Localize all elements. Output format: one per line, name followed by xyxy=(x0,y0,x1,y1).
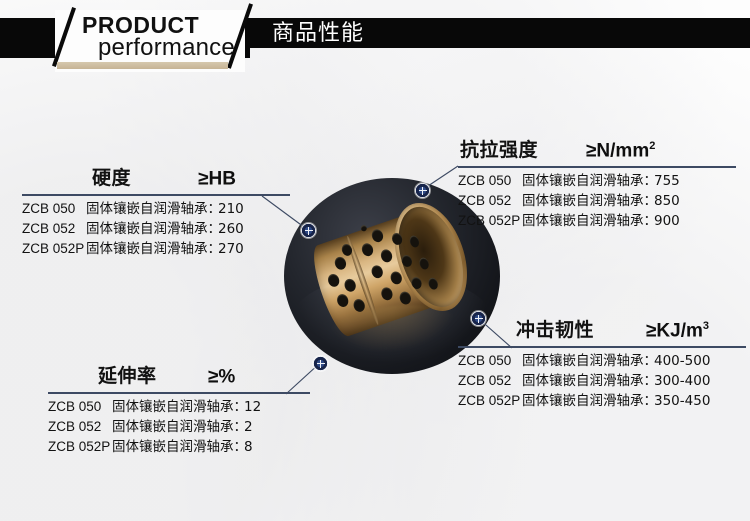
spec-desc: 固体镶嵌自润滑轴承： xyxy=(112,397,244,417)
spec-rows: ZCB 050固体镶嵌自润滑轴承：210 ZCB 052固体镶嵌自润滑轴承：26… xyxy=(22,199,290,259)
spec-value: 2 xyxy=(244,417,253,437)
spec-unit: ≥N/mm2 xyxy=(586,140,655,162)
spec-desc: 固体镶嵌自润滑轴承： xyxy=(112,437,244,457)
page-header: PRODUCT performance 商品性能 xyxy=(0,0,750,100)
spec-row: ZCB 052固体镶嵌自润滑轴承：300-400 xyxy=(458,371,746,391)
header-subtitle: performance xyxy=(98,36,235,60)
spec-row: ZCB 050固体镶嵌自润滑轴承：210 xyxy=(22,199,290,219)
spec-code: ZCB 052 xyxy=(48,417,112,437)
spec-desc: 固体镶嵌自润滑轴承： xyxy=(522,171,654,191)
spec-block-elongation: 延伸率 ≥% ZCB 050固体镶嵌自润滑轴承：12 ZCB 052固体镶嵌自润… xyxy=(48,364,310,457)
spec-unit: ≥% xyxy=(208,366,235,388)
spec-rows: ZCB 050固体镶嵌自润滑轴承：755 ZCB 052固体镶嵌自润滑轴承：85… xyxy=(458,171,736,231)
spec-row: ZCB 052P固体镶嵌自润滑轴承：350-450 xyxy=(458,391,746,411)
spec-heading: 抗拉强度 ≥N/mm2 xyxy=(458,138,736,164)
spec-row: ZCB 050固体镶嵌自润滑轴承：12 xyxy=(48,397,310,417)
header-accent-bar xyxy=(57,62,228,69)
spec-rows: ZCB 050固体镶嵌自润滑轴承：12 ZCB 052固体镶嵌自润滑轴承：2 Z… xyxy=(48,397,310,457)
spec-value: 850 xyxy=(654,191,680,211)
spec-desc: 固体镶嵌自润滑轴承： xyxy=(522,391,654,411)
spec-desc: 固体镶嵌自润滑轴承： xyxy=(522,371,654,391)
spec-code: ZCB 050 xyxy=(22,199,86,219)
spec-rule xyxy=(22,194,290,196)
spec-desc: 固体镶嵌自润滑轴承： xyxy=(86,199,218,219)
spec-unit: ≥KJ/m3 xyxy=(646,320,709,342)
spec-row: ZCB 052固体镶嵌自润滑轴承：850 xyxy=(458,191,736,211)
callout-node-tensile xyxy=(415,183,430,198)
spec-label: 硬度 xyxy=(92,163,131,190)
spec-code: ZCB 052P xyxy=(458,211,522,231)
spec-row: ZCB 052固体镶嵌自润滑轴承：260 xyxy=(22,219,290,239)
spec-code: ZCB 052 xyxy=(458,371,522,391)
spec-row: ZCB 050固体镶嵌自润滑轴承：755 xyxy=(458,171,736,191)
spec-block-hardness: 硬度 ≥HB ZCB 050固体镶嵌自润滑轴承：210 ZCB 052固体镶嵌自… xyxy=(22,166,290,259)
spec-value: 8 xyxy=(244,437,253,457)
spec-rule xyxy=(48,392,310,394)
spec-desc: 固体镶嵌自润滑轴承： xyxy=(86,219,218,239)
spec-rule xyxy=(458,166,736,168)
callout-node-hardness xyxy=(301,223,316,238)
product-performance-page: PRODUCT performance 商品性能 xyxy=(0,0,750,521)
spec-code: ZCB 050 xyxy=(458,351,522,371)
spec-desc: 固体镶嵌自润滑轴承： xyxy=(522,191,654,211)
spec-code: ZCB 052P xyxy=(22,239,86,259)
spec-code: ZCB 052P xyxy=(458,391,522,411)
spec-label: 延伸率 xyxy=(98,361,157,388)
spec-code: ZCB 052P xyxy=(48,437,112,457)
spec-value: 270 xyxy=(218,239,244,259)
spec-rows: ZCB 050固体镶嵌自润滑轴承：400-500 ZCB 052固体镶嵌自润滑轴… xyxy=(458,351,746,411)
spec-block-tensile-strength: 抗拉强度 ≥N/mm2 ZCB 050固体镶嵌自润滑轴承：755 ZCB 052… xyxy=(458,138,736,231)
spec-desc: 固体镶嵌自润滑轴承： xyxy=(86,239,218,259)
spec-label: 抗拉强度 xyxy=(460,135,538,162)
spec-value: 12 xyxy=(244,397,261,417)
spec-row: ZCB 052P固体镶嵌自润滑轴承：270 xyxy=(22,239,290,259)
spec-value: 350-450 xyxy=(654,391,710,411)
spec-row: ZCB 052P固体镶嵌自润滑轴承：900 xyxy=(458,211,736,231)
spec-code: ZCB 052 xyxy=(22,219,86,239)
callout-node-impact xyxy=(471,311,486,326)
page-title: 商品性能 xyxy=(272,21,364,47)
spec-heading: 硬度 ≥HB xyxy=(22,166,290,192)
spec-value: 300-400 xyxy=(654,371,710,391)
spec-row: ZCB 052固体镶嵌自润滑轴承：2 xyxy=(48,417,310,437)
spec-value: 900 xyxy=(654,211,680,231)
spec-rule xyxy=(458,346,746,348)
spec-unit: ≥HB xyxy=(198,168,236,190)
spec-value: 755 xyxy=(654,171,680,191)
spec-label: 冲击韧性 xyxy=(516,315,594,342)
spec-desc: 固体镶嵌自润滑轴承： xyxy=(112,417,244,437)
spec-heading: 冲击韧性 ≥KJ/m3 xyxy=(458,318,746,344)
spec-value: 400-500 xyxy=(654,351,710,371)
callout-node-elongation xyxy=(313,356,328,371)
spec-code: ZCB 052 xyxy=(458,191,522,211)
spec-heading: 延伸率 ≥% xyxy=(48,364,310,390)
spec-value: 210 xyxy=(218,199,244,219)
spec-code: ZCB 050 xyxy=(458,171,522,191)
spec-block-impact-toughness: 冲击韧性 ≥KJ/m3 ZCB 050固体镶嵌自润滑轴承：400-500 ZCB… xyxy=(458,318,746,411)
spec-value: 260 xyxy=(218,219,244,239)
spec-desc: 固体镶嵌自润滑轴承： xyxy=(522,351,654,371)
spec-row: ZCB 050固体镶嵌自润滑轴承：400-500 xyxy=(458,351,746,371)
spec-desc: 固体镶嵌自润滑轴承： xyxy=(522,211,654,231)
spec-code: ZCB 050 xyxy=(48,397,112,417)
spec-row: ZCB 052P固体镶嵌自润滑轴承：8 xyxy=(48,437,310,457)
